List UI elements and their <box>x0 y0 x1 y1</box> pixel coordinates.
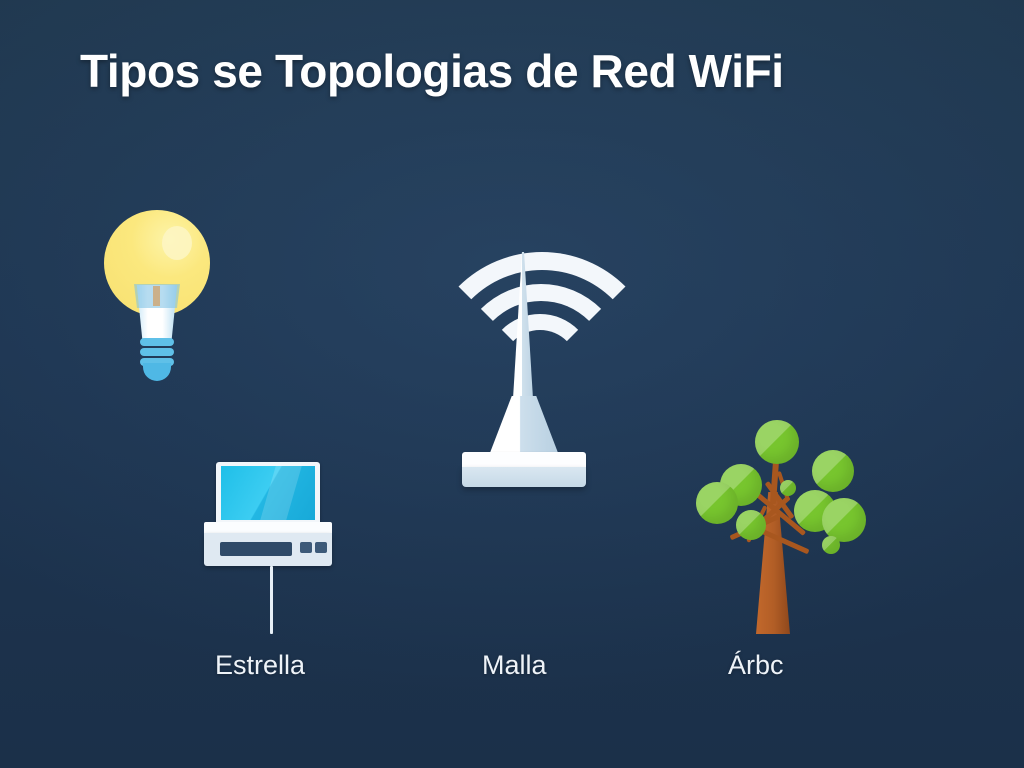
bulb-filament <box>153 286 160 306</box>
tower-base-flare <box>488 396 560 458</box>
computer-icon <box>196 462 346 572</box>
lightbulb-icon <box>62 160 252 385</box>
bulb-highlight <box>162 226 192 260</box>
topology-label-estrella: Estrella <box>215 650 305 681</box>
tree-leaf <box>696 482 738 524</box>
tower-base-top <box>462 452 586 468</box>
topology-label-arbol: Árbc <box>728 650 784 681</box>
bulb-tip <box>143 363 171 381</box>
tower-base-front <box>462 467 586 487</box>
tree-leaf <box>736 510 766 540</box>
slide-canvas: Tipos se Topologias de Red WiFi <box>0 0 1024 768</box>
page-title: Tipos se Topologias de Red WiFi <box>80 44 960 98</box>
topology-label-malla: Malla <box>482 650 547 681</box>
computer-drive-slot <box>220 542 292 556</box>
computer-indicator-light <box>300 542 312 553</box>
wifi-arc-inner <box>486 314 594 422</box>
tree-leaf <box>780 480 796 496</box>
wifi-tower-icon <box>424 246 624 496</box>
tree-icon <box>694 414 864 639</box>
bulb-screw-thread <box>140 348 174 356</box>
tree-leaf <box>755 420 799 464</box>
computer-indicator-light <box>315 542 327 553</box>
connector-line-icon <box>270 566 273 634</box>
tree-leaf <box>812 450 854 492</box>
tree-leaf <box>822 536 840 554</box>
bulb-screw-thread <box>140 338 174 346</box>
